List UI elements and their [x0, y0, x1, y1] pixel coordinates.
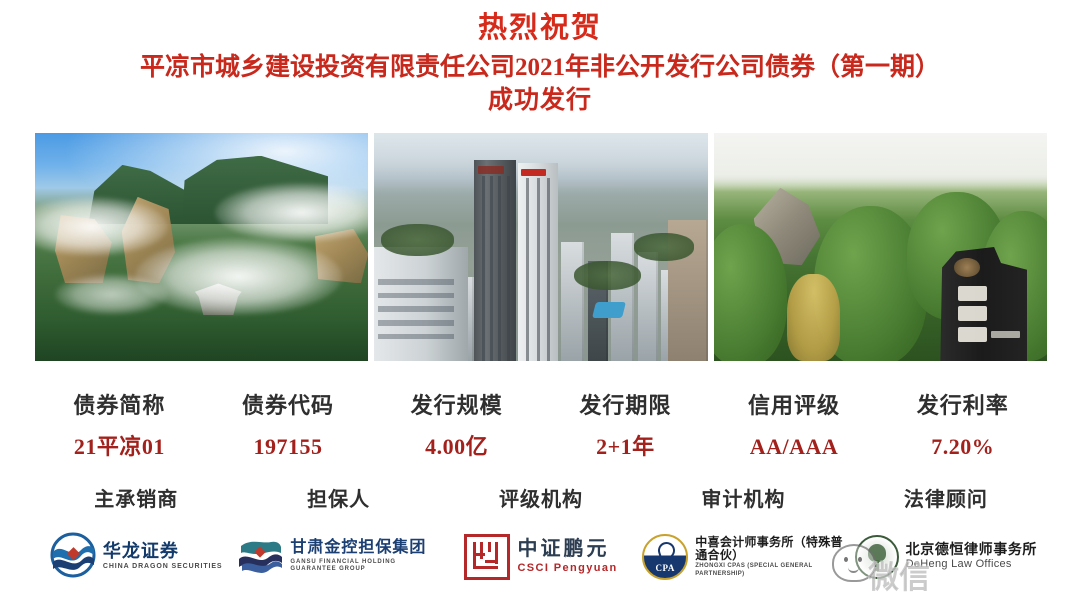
bond-column-coupon-rate: 发行利率 7.20%	[878, 392, 1047, 460]
column-header: 债券简称	[35, 392, 204, 420]
column-value: 21平凉01	[35, 433, 204, 461]
photo-strip	[35, 133, 1047, 361]
overcast-sky-shape	[714, 133, 1047, 192]
role-label-auditor: 审计机构	[642, 483, 844, 512]
logo-text-group: 甘肃金控担保集团 GANSU FINANCIAL HOLDING GUARANT…	[290, 540, 439, 574]
window-band-shape	[378, 320, 454, 326]
announcement-title-block: 热烈祝贺 平凉市城乡建设投资有限责任公司2021年非公开发行公司债券（第一期） …	[0, 10, 1080, 117]
role-label-rating-agency: 评级机构	[440, 483, 642, 512]
bond-column-credit-rating: 信用评级 AA/AAA	[710, 392, 879, 460]
building-shape	[561, 242, 584, 361]
window-band-shape	[378, 334, 454, 340]
tree-canopy-shape	[381, 224, 454, 256]
column-value: 197155	[204, 433, 373, 461]
mist-cloud-shape	[215, 183, 368, 242]
title-subtitle-line-2: 成功发行	[0, 84, 1080, 117]
gansu-financial-holding-guarantee-logo: 甘肃金控担保集团 GANSU FINANCIAL HOLDING GUARANT…	[237, 522, 439, 592]
blue-wave-circle-icon	[50, 532, 96, 583]
logo-name-en: CHINA DRAGON SECURITIES	[103, 563, 223, 572]
logo-name-en: DeHeng Law Offices	[906, 558, 1037, 572]
monument-character-shape	[958, 327, 987, 342]
monument-character-shape	[958, 286, 987, 301]
hualong-securities-logo: 华龙证券 CHINA DRAGON SECURITIES	[35, 522, 237, 592]
column-header: 发行期限	[541, 392, 710, 420]
tower-stripe-shape	[526, 178, 529, 360]
cpa-swirl-shape	[656, 540, 677, 561]
deheng-law-offices-logo: 北京德恒律师事务所 DeHeng Law Offices	[845, 522, 1047, 592]
logo-name-en: ZHONGXI CPAS (SPECIAL GENERAL PARTNERSHI…	[695, 563, 844, 578]
logo-name-cn: 中喜会计师事务所（特殊普通合伙）	[695, 536, 844, 561]
blue-wave-circle-icon	[237, 532, 283, 583]
bond-summary-table: 债券简称 21平凉01 债券代码 197155 发行规模 4.00亿 发行期限 …	[35, 392, 1047, 460]
column-header: 发行规模	[372, 392, 541, 420]
tower-light-shape	[518, 163, 558, 361]
tree-canopy-shape	[634, 233, 694, 260]
tower-stripe-shape	[498, 176, 501, 361]
column-value: 2+1年	[541, 433, 710, 461]
deheng-emblem-icon	[855, 535, 899, 579]
logo-text-group: 华龙证券 CHINA DRAGON SECURITIES	[103, 542, 223, 572]
column-header: 发行利率	[878, 392, 1047, 420]
participant-logos-row: 华龙证券 CHINA DRAGON SECURITIES 甘肃金控担保集团 GA…	[35, 522, 1047, 592]
column-value: AA/AAA	[710, 433, 879, 461]
monument-seal-shape	[954, 258, 980, 276]
building-shape	[638, 252, 658, 361]
tower-dark-shape	[474, 160, 516, 361]
column-header: 信用评级	[710, 392, 879, 420]
logo-text-group: 中证鹏元 CSCI Pengyuan	[517, 539, 617, 576]
role-label-guarantor: 担保人	[237, 483, 439, 512]
misty-mountain-photo	[35, 133, 368, 361]
logo-name-cn: 甘肃金控担保集团	[290, 540, 439, 557]
foreground-building-shape	[374, 247, 467, 361]
logo-text-group: 北京德恒律师事务所 DeHeng Law Offices	[906, 542, 1037, 572]
logo-name-en: CSCI Pengyuan	[517, 562, 617, 576]
monument-character-shape	[958, 306, 987, 321]
monument-subtext-shape	[991, 331, 1020, 338]
golden-foliage-shape	[787, 274, 840, 361]
window-band-shape	[378, 279, 454, 285]
page-title: 热烈祝贺	[0, 10, 1080, 47]
bond-column-short-name: 债券简称 21平凉01	[35, 392, 204, 460]
title-subtitle-line-1: 平凉市城乡建设投资有限责任公司2021年非公开发行公司债券（第一期）	[0, 51, 1080, 84]
bond-column-term: 发行期限 2+1年	[541, 392, 710, 460]
tower-stripe-shape	[490, 176, 493, 361]
emblem-trunk-shape	[875, 560, 879, 571]
bond-column-code: 债券代码 197155	[204, 392, 373, 460]
tower-stripe-shape	[507, 176, 510, 361]
csci-pengyuan-logo: 中证鹏元 CSCI Pengyuan	[440, 522, 642, 592]
tower-sign-shape	[521, 169, 547, 177]
role-label-lead-underwriter: 主承销商	[35, 483, 237, 512]
bond-column-issue-size: 发行规模 4.00亿	[372, 392, 541, 460]
logo-name-cn: 中证鹏元	[517, 539, 617, 560]
logo-name-cn: 华龙证券	[103, 542, 223, 561]
tower-sign-shape	[478, 166, 504, 174]
logo-text-group: 中喜会计师事务所（特殊普通合伙） ZHONGXI CPAS (SPECIAL G…	[695, 536, 844, 578]
window-band-shape	[378, 306, 454, 312]
mist-cloud-shape	[135, 238, 342, 316]
tower-stripe-shape	[547, 178, 550, 360]
building-shape	[611, 233, 634, 361]
tower-stripe-shape	[482, 176, 485, 361]
zhongxi-cpas-logo: CPA 中喜会计师事务所（特殊普通合伙） ZHONGXI CPAS (SPECI…	[642, 522, 844, 592]
city-skyline-photo	[374, 133, 707, 361]
pool-shape	[592, 302, 626, 318]
tower-stripe-shape	[537, 178, 540, 360]
logo-name-cn: 北京德恒律师事务所	[906, 542, 1037, 557]
logo-name-en: GANSU FINANCIAL HOLDING GUARANTEE GROUP	[290, 559, 439, 574]
tree-canopy-shape	[574, 261, 641, 291]
column-header: 债券代码	[204, 392, 373, 420]
cpa-label: CPA	[644, 563, 686, 573]
cpa-circle-icon: CPA	[642, 534, 688, 580]
window-band-shape	[378, 293, 454, 299]
participant-roles-row: 主承销商 担保人 评级机构 审计机构 法律顾问	[35, 483, 1047, 512]
mist-cloud-shape	[55, 274, 168, 315]
column-value: 7.20%	[878, 433, 1047, 461]
red-seal-square-icon	[464, 534, 510, 580]
role-label-legal-counsel: 法律顾问	[845, 483, 1047, 512]
kongtong-monument-photo	[714, 133, 1047, 361]
column-value: 4.00亿	[372, 433, 541, 461]
